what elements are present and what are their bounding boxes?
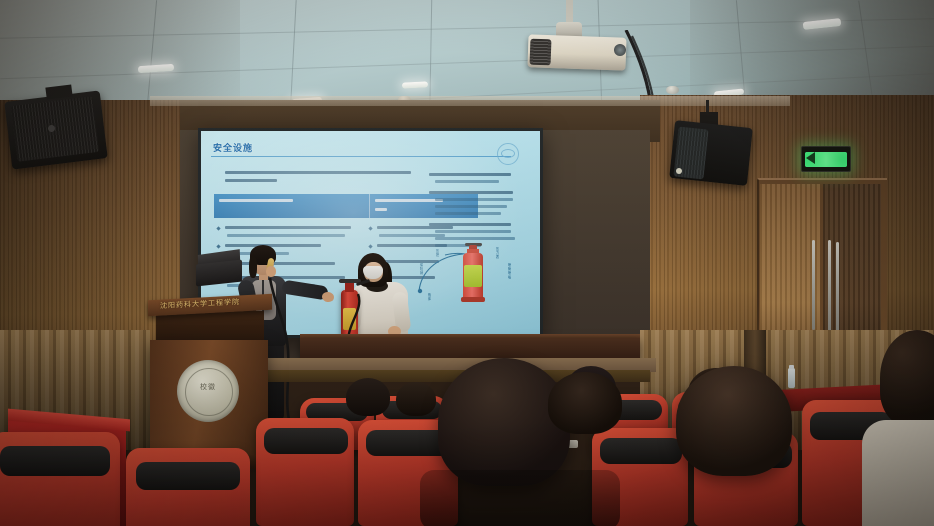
school-logo-inner-icon [501, 149, 515, 158]
exit-arrow-icon [806, 152, 815, 164]
fire-extinguisher-neck [345, 283, 354, 292]
audience-head-foreground [548, 372, 622, 434]
slide-title-rule [211, 156, 511, 157]
seat-headrest [264, 428, 348, 454]
auditorium-photo: 安全设施 [0, 0, 934, 526]
podium-emblem-ring [185, 368, 233, 416]
extinguisher-base-diagram [461, 297, 485, 302]
podium-emblem-text: 校徽 [190, 382, 226, 392]
audience-head-foreground [438, 358, 570, 486]
door-handle-icon[interactable] [812, 240, 815, 330]
water-bottle [788, 368, 795, 388]
seat-headrest [0, 446, 110, 476]
diagram-label-safety-pin: 保险销 [415, 263, 423, 276]
seat-headrest [600, 438, 682, 464]
audience-head [346, 378, 390, 416]
audience-head [396, 382, 436, 416]
audience-head-foreground [676, 366, 792, 476]
bottle-cap [789, 365, 794, 369]
slide-table-divider [369, 194, 370, 218]
fire-extinguisher-hose [338, 292, 364, 340]
ceiling-cornice [150, 96, 790, 106]
diagram-label-pressure-gauge: 压力表 [491, 247, 499, 260]
door-handle-icon[interactable] [836, 242, 839, 334]
speaker-indicator-icon [676, 168, 682, 174]
projector-vent [530, 39, 552, 66]
podium-upper-body [156, 311, 264, 343]
diagram-label-press-handle: 压把 [431, 249, 439, 257]
door-handle-icon[interactable] [828, 240, 831, 336]
slide-title: 安全设施 [213, 141, 253, 154]
seat-headrest [136, 462, 240, 490]
foreground-shadow [420, 470, 620, 526]
extinguisher-label-diagram [464, 265, 482, 287]
audience-shoulder [862, 420, 934, 526]
diagram-label-cylinder: 瓶体 [423, 293, 431, 301]
diagram-label-nozzle: 喷管喷嘴 [503, 263, 511, 280]
